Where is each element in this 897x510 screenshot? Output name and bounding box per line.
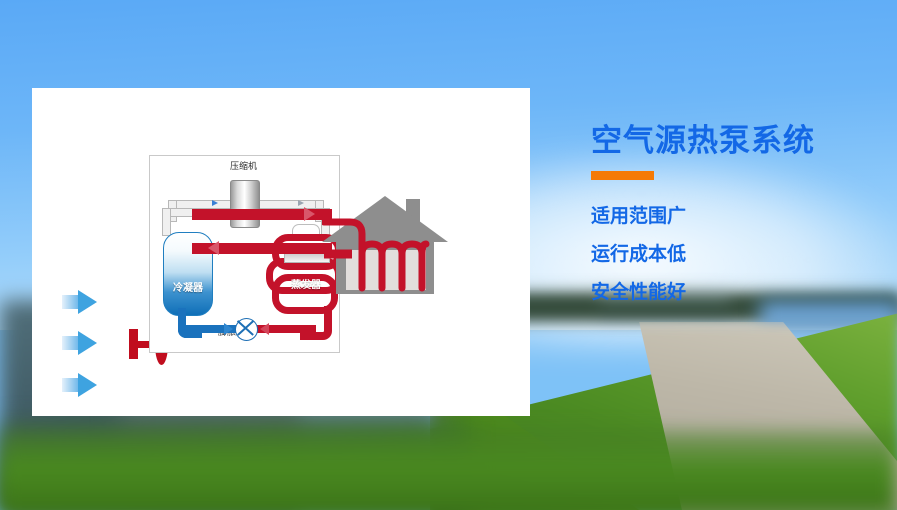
info-panel: 空气源热泵系统 适用范围广 运行成本低 安全性能好: [591, 123, 891, 303]
air-intake-arrow-2: [62, 331, 96, 355]
supply-flow-arrow: [304, 207, 315, 221]
diagram-card: 压缩机 膨胀阀 冷凝器 蒸发器: [32, 88, 530, 416]
arrow-head: [78, 290, 97, 314]
hot-flow-arrow: [260, 323, 269, 335]
liquid-flow-arrow: [224, 323, 233, 335]
expansion-valve-icon: [235, 318, 258, 341]
return-flow-arrow: [208, 241, 219, 255]
arrow-head: [78, 331, 97, 355]
compressor-unit: [230, 180, 260, 228]
accent-bar: [591, 171, 654, 180]
floor-heating-coil: [322, 196, 448, 294]
flow-arrow-to-compressor: [212, 200, 218, 206]
arrow-head: [78, 373, 97, 397]
air-intake-arrow-3: [62, 373, 96, 397]
refrigeration-cycle-diagram: 压缩机 膨胀阀 冷凝器 蒸发器: [149, 155, 340, 353]
air-intake-arrow-1: [62, 290, 96, 314]
page-title: 空气源热泵系统: [591, 123, 891, 159]
flow-arrow-from-compressor: [298, 200, 304, 206]
compressor-label: 压缩机: [230, 162, 257, 173]
feature-item-2: 运行成本低: [591, 244, 891, 265]
liquid-line-elbow: [178, 308, 202, 338]
feature-item-1: 适用范围广: [591, 206, 891, 227]
feature-item-3: 安全性能好: [591, 282, 891, 303]
grass-bottom: [0, 430, 897, 510]
gas-pipe-left-outer: [162, 208, 171, 236]
condenser-label: 冷凝器: [164, 279, 212, 294]
